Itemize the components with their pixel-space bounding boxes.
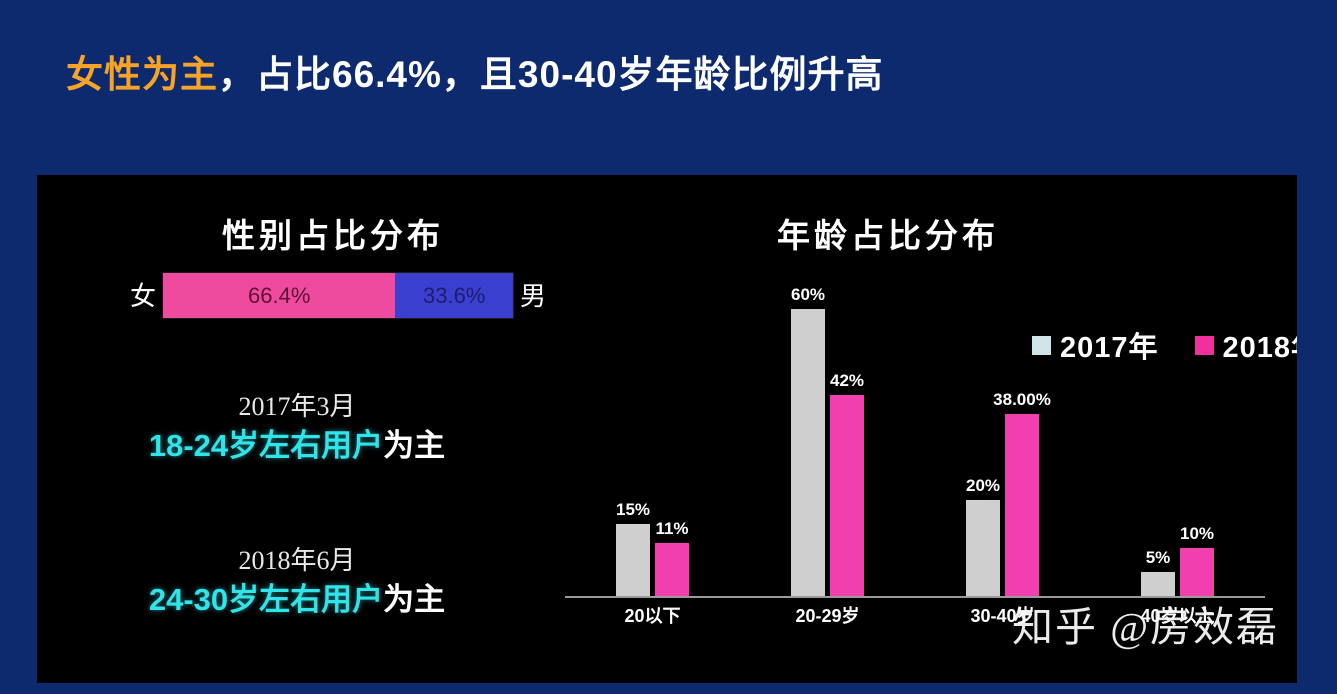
bar-wrapper: 11%: [655, 271, 689, 596]
bar-wrapper: 10%: [1180, 271, 1214, 596]
annotation-suffix: 为主: [383, 582, 445, 617]
age-chart-heading: 年龄占比分布: [777, 209, 999, 257]
annotation-2018: 2018年6月 24-30岁左右用户为主: [37, 545, 557, 620]
bar[interactable]: [791, 309, 825, 596]
category-label: 20-29岁: [740, 602, 915, 628]
category-label: 40岁以上: [1090, 602, 1265, 628]
gender-segment-male: 33.6%: [395, 273, 513, 318]
bar[interactable]: [655, 543, 689, 596]
bar-value-label: 5%: [1146, 548, 1171, 568]
bar[interactable]: [1180, 548, 1214, 596]
gender-label-female: 女: [123, 283, 163, 309]
page-title-rest: ，占比66.4%，且30-40岁年龄比例升高: [218, 54, 884, 95]
bar-value-label: 20%: [966, 476, 1000, 496]
annotation-text: 18-24岁左右用户为主: [37, 426, 557, 466]
annotation-highlight: 18-24岁左右用户: [149, 428, 383, 463]
bar-group: 15%11%20以下: [565, 271, 740, 596]
bar-value-label: 42%: [830, 371, 864, 391]
bar-groups: 15%11%20以下60%42%20-29岁20%38.00%30-40岁5%1…: [565, 271, 1265, 596]
bar-value-label: 10%: [1180, 524, 1214, 544]
bar-wrapper: 42%: [830, 271, 864, 596]
category-label: 20以下: [565, 602, 740, 628]
annotation-highlight: 24-30岁左右用户: [149, 582, 383, 617]
bar[interactable]: [1005, 414, 1039, 596]
gender-chart-heading: 性别占比分布: [222, 209, 444, 257]
bar-value-label: 15%: [616, 500, 650, 520]
bar[interactable]: [1141, 572, 1175, 596]
bar[interactable]: [966, 500, 1000, 596]
annotation-suffix: 为主: [383, 428, 445, 463]
bar[interactable]: [830, 395, 864, 596]
bar-group: 5%10%40岁以上: [1090, 271, 1265, 596]
bar-wrapper: 5%: [1141, 271, 1175, 596]
x-axis-line: [565, 596, 1265, 598]
bar-wrapper: 15%: [616, 271, 650, 596]
bar-wrapper: 20%: [966, 271, 1000, 596]
annotation-text: 24-30岁左右用户为主: [37, 580, 557, 620]
annotation-date: 2018年6月: [37, 545, 557, 578]
page-title: 女性为主，占比66.4%，且30-40岁年龄比例升高: [66, 44, 884, 98]
age-bar-chart-plot: 15%11%20以下60%42%20-29岁20%38.00%30-40岁5%1…: [565, 271, 1265, 634]
category-label: 30-40岁: [915, 602, 1090, 628]
annotation-date: 2017年3月: [37, 391, 557, 424]
bar-group: 20%38.00%30-40岁: [915, 271, 1090, 596]
gender-bar-row: 女 66.4% 33.6% 男: [123, 273, 553, 318]
gender-stacked-bar: 66.4% 33.6%: [163, 273, 513, 318]
bar-wrapper: 60%: [791, 271, 825, 596]
content-panel: 性别占比分布 女 66.4% 33.6% 男 2017年3月 18-24岁左右用…: [37, 175, 1297, 683]
age-distribution-section: 年龄占比分布 2017年 2018年 15%11%20以下60%42%20-29…: [557, 175, 1297, 683]
bar-wrapper: 38.00%: [1005, 271, 1039, 596]
gender-segment-female: 66.4%: [163, 273, 395, 318]
bar-value-label: 11%: [655, 519, 688, 539]
gender-label-male: 男: [513, 283, 553, 309]
annotation-2017: 2017年3月 18-24岁左右用户为主: [37, 391, 557, 466]
bar[interactable]: [616, 524, 650, 596]
bar-group: 60%42%20-29岁: [740, 271, 915, 596]
gender-distribution-section: 性别占比分布 女 66.4% 33.6% 男 2017年3月 18-24岁左右用…: [37, 175, 557, 683]
page-title-accent: 女性为主: [66, 54, 218, 95]
bar-value-label: 60%: [791, 285, 825, 305]
bar-value-label: 38.00%: [993, 390, 1051, 410]
